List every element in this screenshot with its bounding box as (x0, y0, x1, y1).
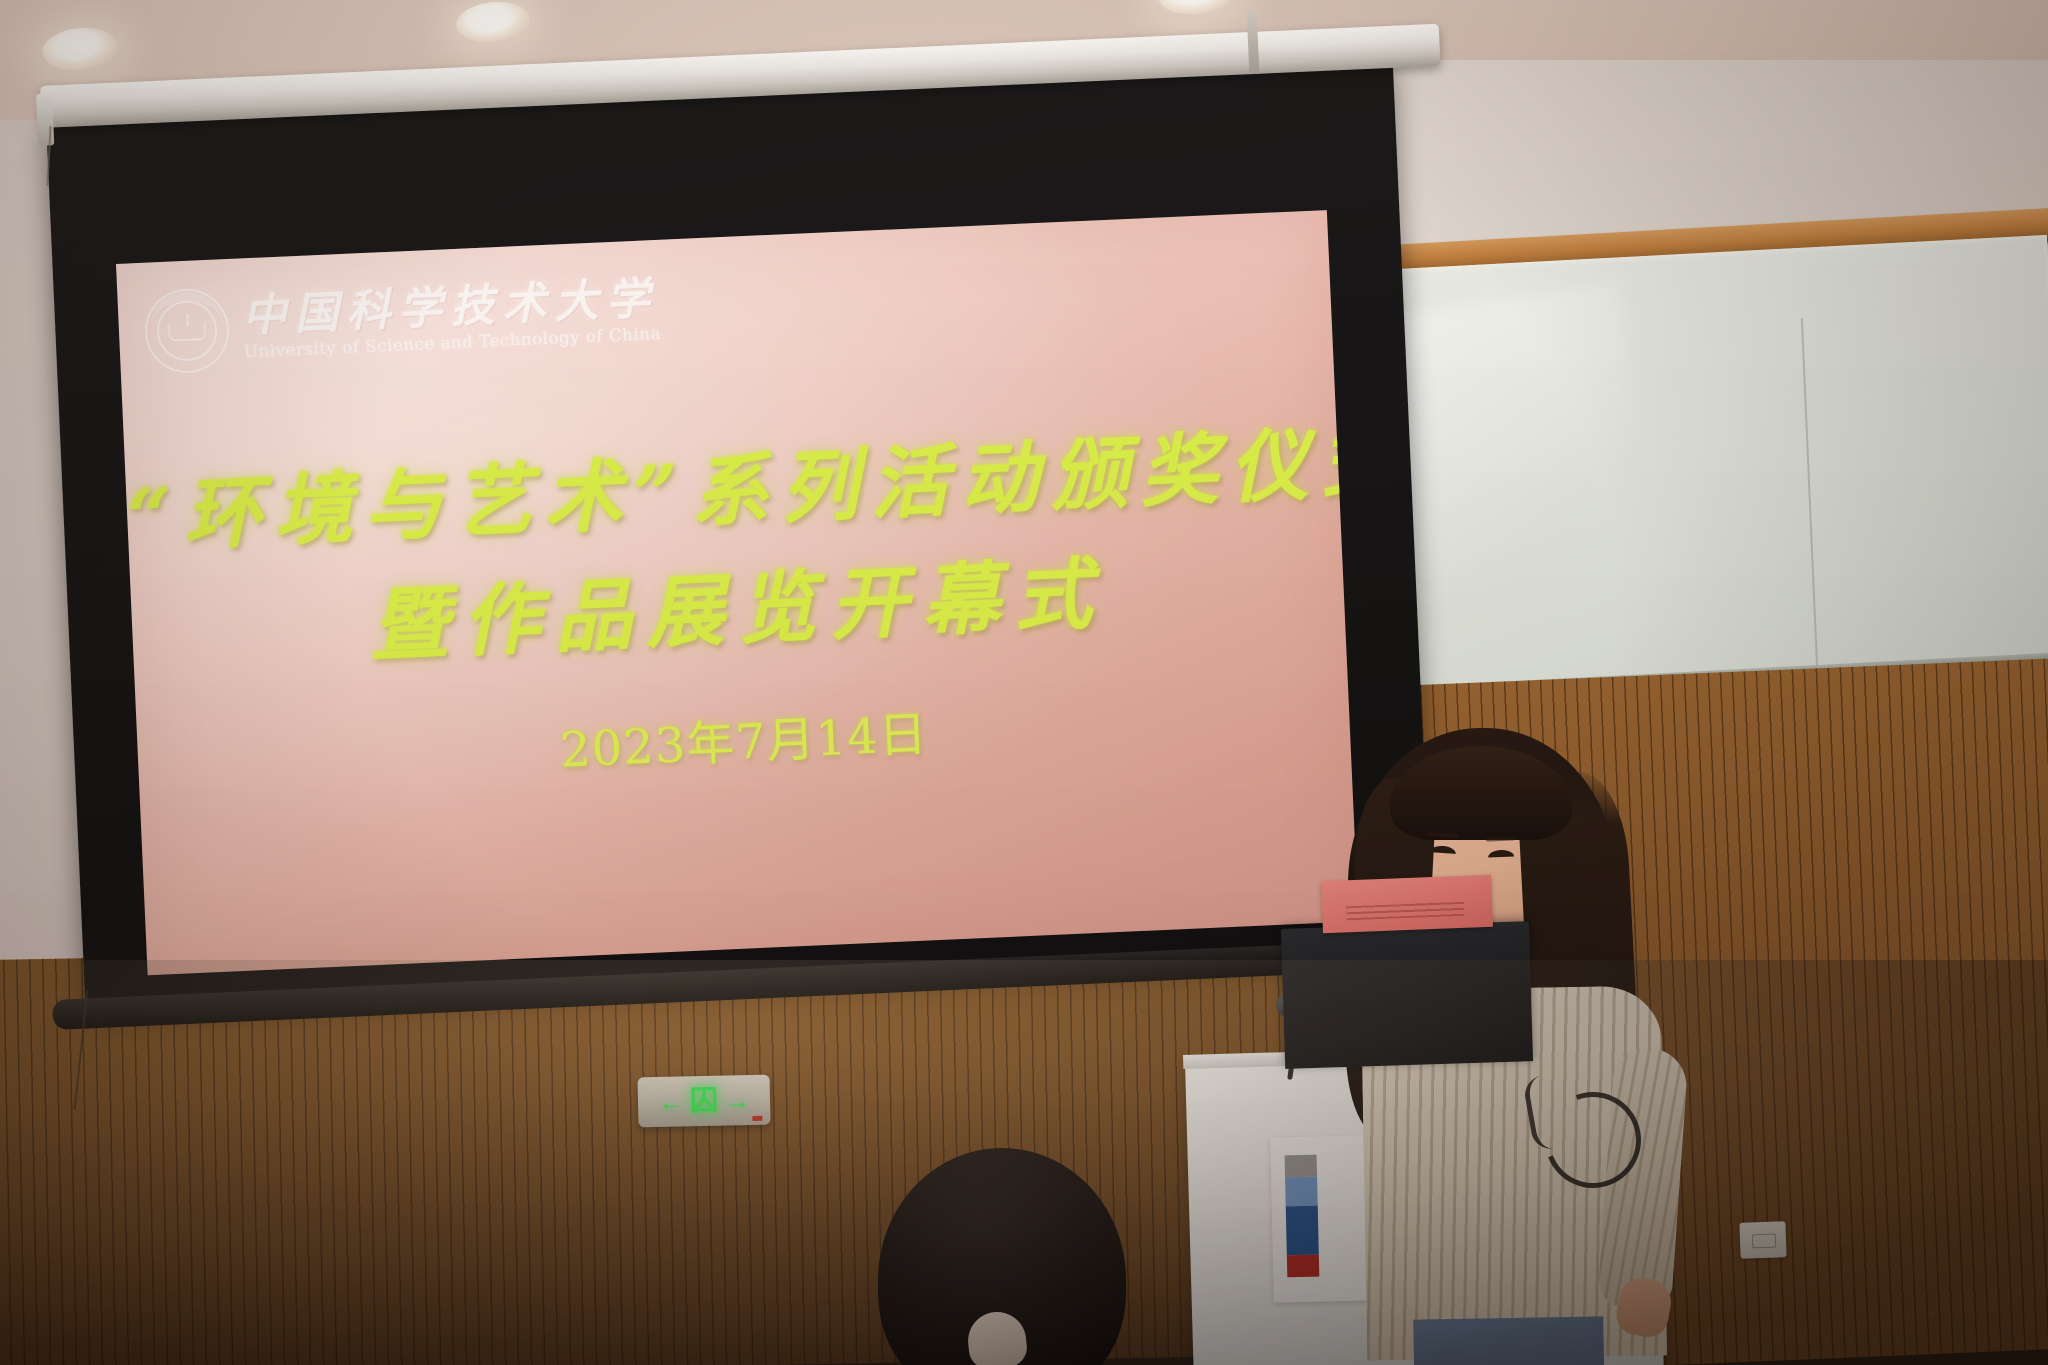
emergency-exit-sign: ← 囚 → (637, 1075, 770, 1128)
presentation-slide: 中国科学技术大学 University of Science and Techn… (116, 210, 1358, 975)
exit-person-icon: 囚 (690, 1087, 719, 1116)
red-speech-card (1321, 875, 1493, 933)
ustc-logo: 中国科学技术大学 University of Science and Techn… (143, 268, 662, 375)
slide-title: “环境与艺术”系列活动颁奖仪式 暨作品展览开幕式 (125, 406, 1346, 697)
arrow-right-icon: → (724, 1087, 751, 1114)
trousers (1413, 1316, 1605, 1365)
poster-color-bar (1285, 1155, 1320, 1278)
lecture-hall-scene: 中国科学技术大学 University of Science and Techn… (0, 0, 2048, 1365)
wall-power-outlet (1739, 1221, 1786, 1259)
arrow-left-icon: ← (658, 1088, 685, 1115)
exit-sign-indicator-led (752, 1116, 762, 1121)
ustc-seal-icon (143, 287, 231, 375)
slide-date: 2023年7月14日 (137, 676, 1351, 800)
laptop[interactable] (1281, 921, 1533, 1069)
screen-roller-cap (36, 93, 54, 146)
